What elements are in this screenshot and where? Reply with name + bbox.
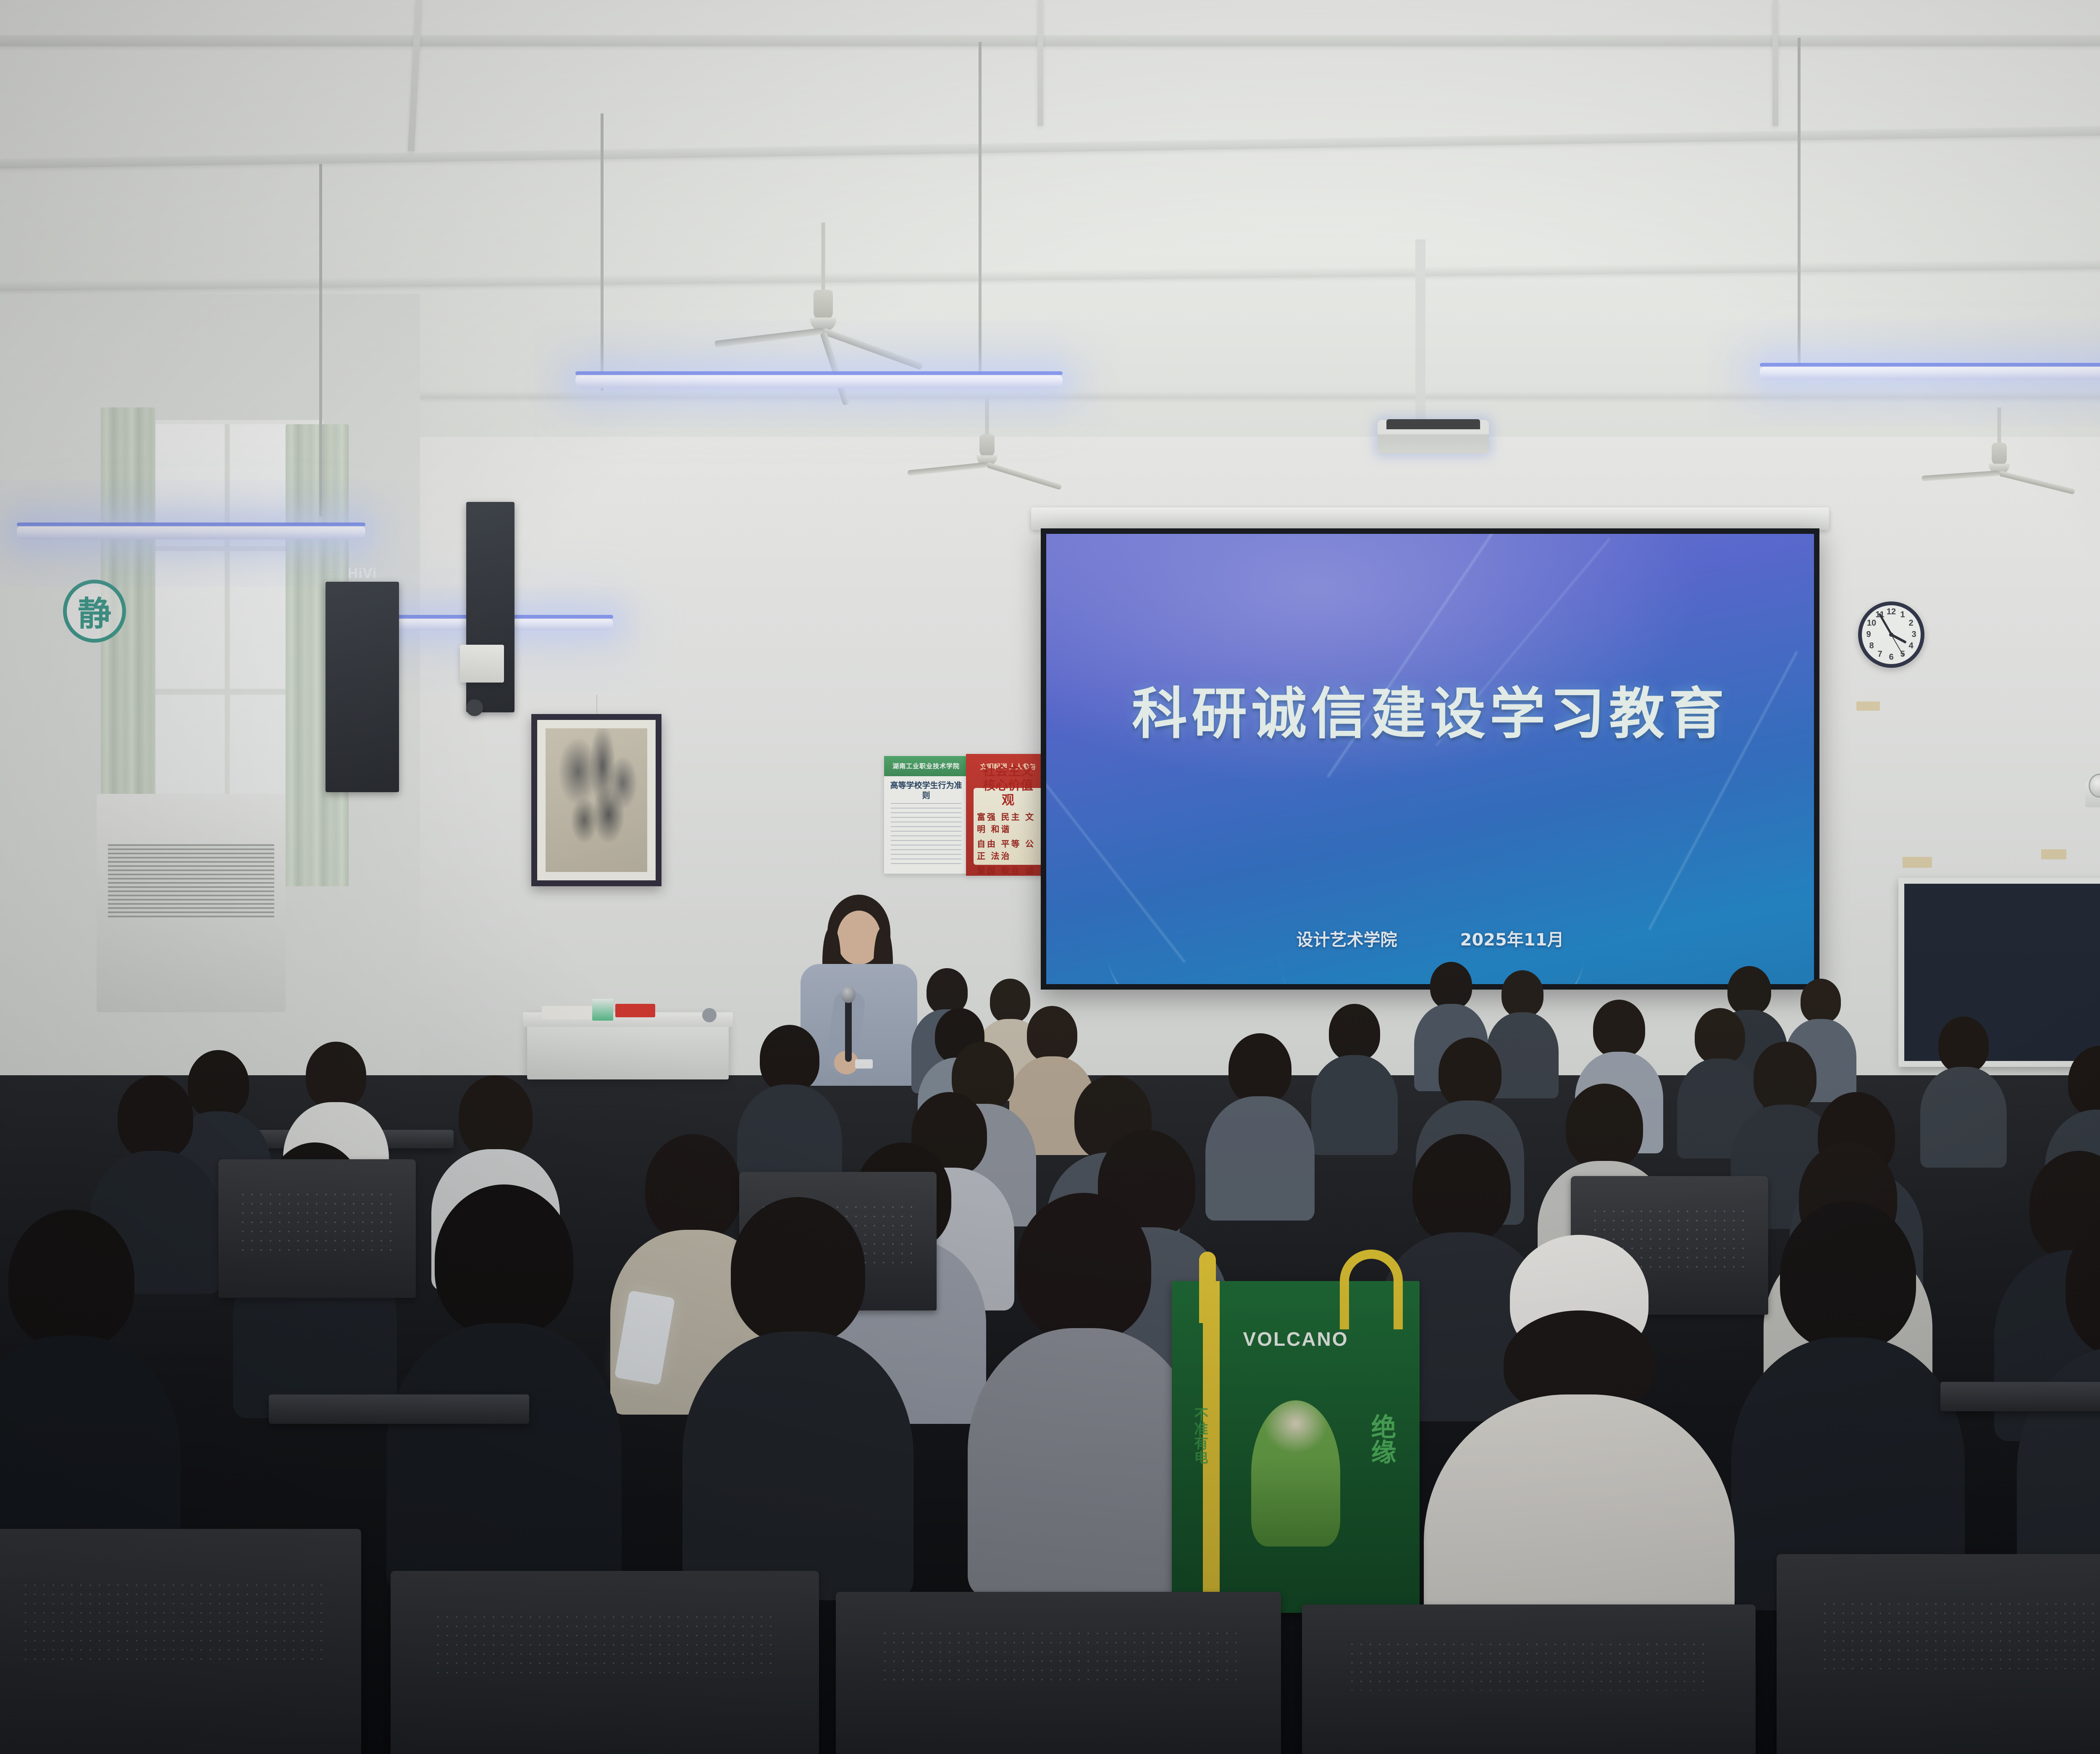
desk-red-folder bbox=[615, 1004, 655, 1017]
ceiling-fan bbox=[714, 223, 932, 361]
wall-tape bbox=[2041, 849, 2066, 859]
slide-footer: 设计艺术学院 2025年11月 bbox=[1046, 926, 1814, 951]
desk-box bbox=[592, 999, 613, 1021]
tube-light bbox=[1760, 365, 2100, 380]
tote-brand-label: VOLCANO bbox=[1172, 1328, 1420, 1350]
attendee bbox=[1764, 1201, 1932, 1596]
teaching-desk bbox=[527, 1012, 729, 1079]
tote-handle-left bbox=[1199, 1252, 1216, 1323]
tote-chinese-large: 绝缘 bbox=[1368, 1414, 1395, 1464]
air-conditioner bbox=[97, 794, 286, 1012]
slide-title: 科研诚信建设学习教育 bbox=[1046, 669, 1814, 749]
attendee bbox=[1319, 1004, 1390, 1147]
tote-bag: VOLCANO 绝缘 不准有电 bbox=[1172, 1281, 1420, 1613]
seat-back-foreground bbox=[1302, 1604, 1756, 1754]
wall-box bbox=[460, 645, 504, 683]
light-drop-rod bbox=[601, 113, 604, 391]
screen-housing bbox=[1031, 507, 1829, 530]
poster-core-values: 文明起湘 人人参与 社会主义 核心价值观 富强 民主 文明 和谐 自由 平等 公… bbox=[966, 754, 1050, 876]
attendee-with-phone bbox=[420, 1184, 588, 1588]
seat-back-foreground bbox=[1777, 1554, 2100, 1754]
seat-back-foreground bbox=[836, 1592, 1281, 1754]
projector bbox=[1378, 420, 1489, 454]
seat-back-foreground bbox=[0, 1529, 361, 1754]
wall-sensor bbox=[466, 699, 483, 716]
framed-artwork bbox=[531, 714, 661, 886]
slide-surface: 科研诚信建设学习教育 设计艺术学院 2025年11月 bbox=[1046, 534, 1814, 984]
tote-chinese-small: 不准有电 bbox=[1192, 1407, 1207, 1464]
desk-rail bbox=[269, 1394, 529, 1424]
lecture-hall-photo: 静 bbox=[0, 0, 2100, 1754]
light-drop-rod bbox=[1798, 38, 1801, 365]
ceiling-beam bbox=[1037, 0, 1043, 126]
projection-screen: 科研诚信建设学习教育 设计艺术学院 2025年11月 bbox=[1041, 528, 1819, 990]
poster-student-code: 湖南工业职业技术学院 高等学校学生行为准则 bbox=[884, 756, 968, 874]
ceiling-beam bbox=[0, 35, 2100, 46]
light-drop-rod bbox=[979, 42, 982, 374]
desk-mic-stand bbox=[702, 1008, 717, 1022]
speaker-brand-label: HiVi bbox=[348, 565, 377, 582]
tote-handle-right bbox=[1340, 1250, 1403, 1329]
speaker-left: HiVi bbox=[325, 582, 399, 792]
ceiling-fan bbox=[903, 399, 1071, 500]
wall-tape bbox=[1903, 857, 1932, 868]
wall-tape bbox=[1856, 701, 1880, 711]
light-drop-rod bbox=[319, 164, 322, 517]
quiet-sign: 静 bbox=[63, 580, 126, 643]
emergency-light bbox=[2085, 782, 2100, 807]
attendee bbox=[1000, 1193, 1168, 1588]
attendee bbox=[714, 1197, 882, 1588]
wall-clock: 12 1 2 3 4 5 6 7 8 9 10 11 bbox=[1858, 601, 1924, 668]
ceiling-fan bbox=[1915, 407, 2083, 508]
ceiling-beam bbox=[1772, 0, 1778, 126]
attendee bbox=[1218, 1033, 1302, 1214]
seat-back bbox=[218, 1159, 416, 1298]
attendee bbox=[1928, 1016, 1999, 1159]
desk-rail bbox=[1940, 1382, 2100, 1411]
tube-light bbox=[17, 525, 365, 539]
tube-light bbox=[575, 374, 1063, 388]
slide-org: 设计艺术学院 bbox=[1297, 926, 1397, 951]
projector-mount bbox=[1415, 239, 1425, 420]
seat-back-foreground bbox=[391, 1571, 819, 1754]
slide-date: 2025年11月 bbox=[1460, 926, 1564, 951]
